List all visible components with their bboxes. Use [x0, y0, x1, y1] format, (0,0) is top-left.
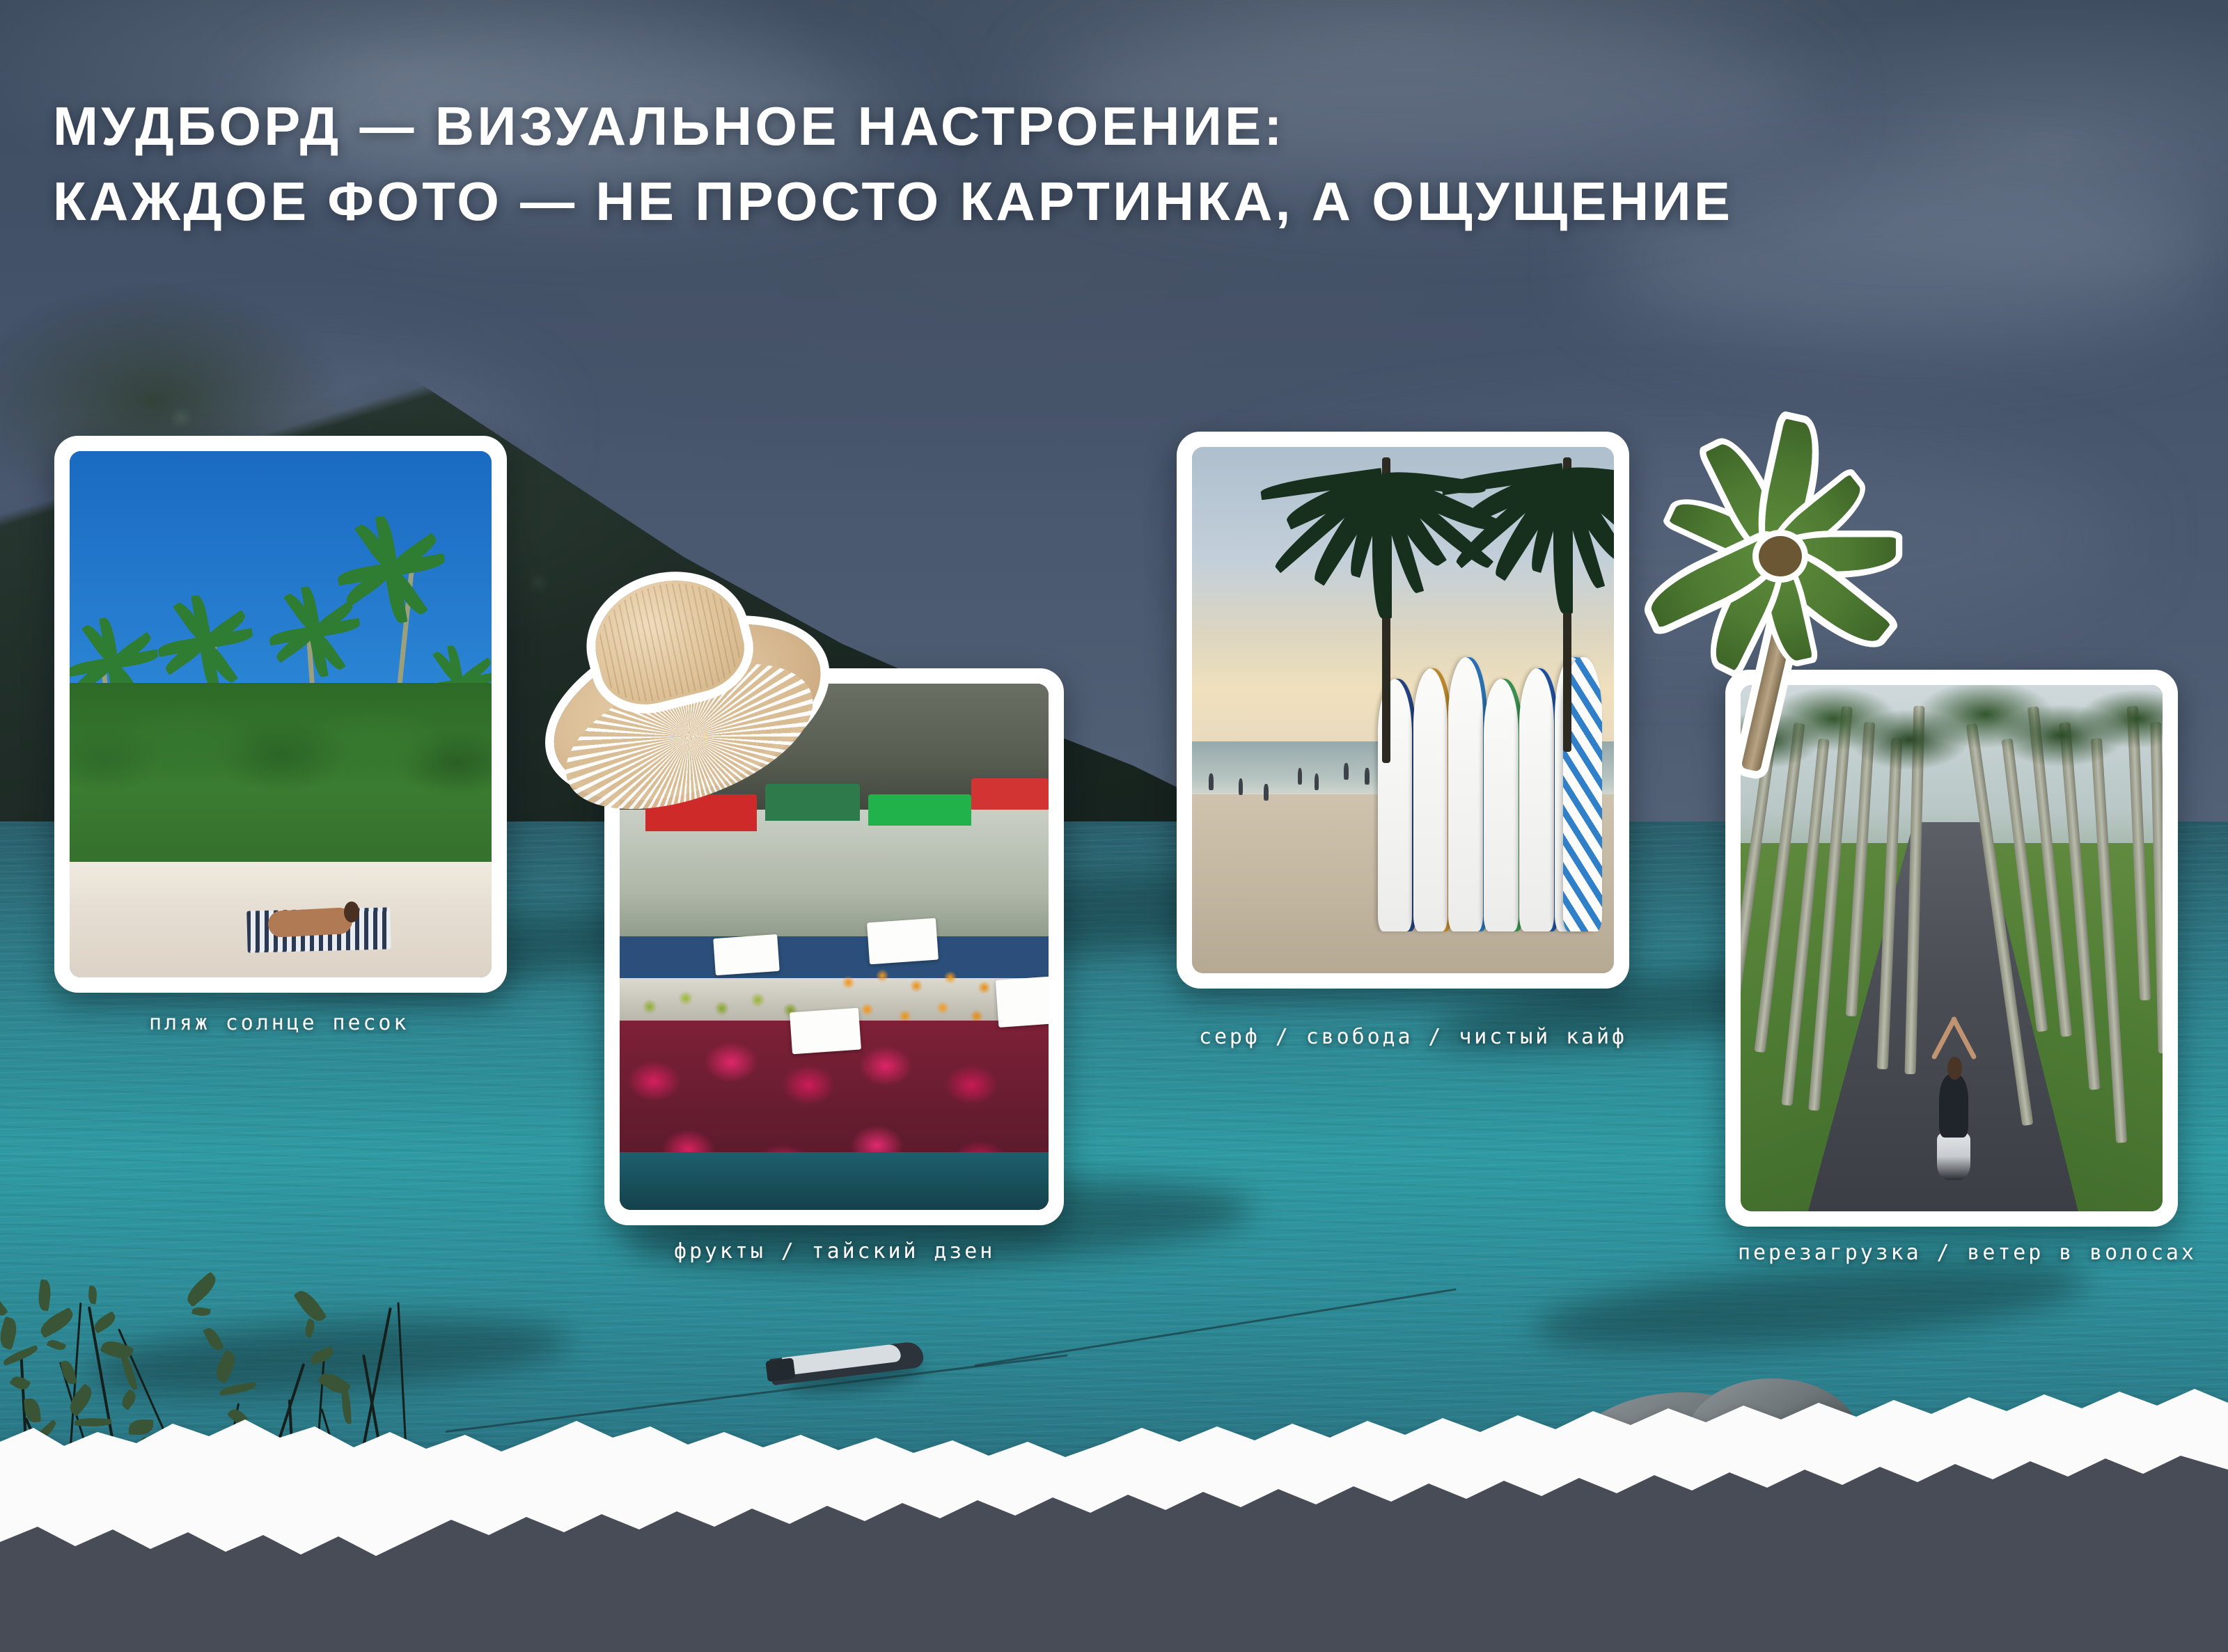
photo-beach: [70, 451, 492, 977]
bush-leaf: [0, 1316, 20, 1350]
bush-leaf: [47, 1337, 67, 1353]
moodboard-slide: МУДБОРД — ВИЗУАЛЬНОЕ НАСТРОЕНИЕ: КАЖДОЕ …: [0, 0, 2228, 1652]
photo-card-scooter[interactable]: [1725, 670, 2178, 1227]
photo-rider-head: [1947, 1057, 1962, 1080]
photo-person: [1264, 784, 1269, 801]
straw-hat-sticker: [539, 561, 834, 831]
photo-surfboard: [1448, 657, 1487, 931]
title-line-2: КАЖДОЕ ФОТО — НЕ ПРОСТО КАРТИНКА, А ОЩУЩ…: [53, 164, 1733, 239]
page-title: МУДБОРД — ВИЗУАЛЬНОЕ НАСТРОЕНИЕ: КАЖДОЕ …: [53, 89, 1733, 239]
photo-person: [1239, 778, 1244, 795]
photo-sunbather-head: [344, 902, 359, 922]
photo-market-crate: [620, 1152, 1049, 1210]
bush-leaf: [191, 1305, 211, 1317]
bush-leaf: [203, 1325, 223, 1353]
photo-surfboard: [1519, 668, 1558, 931]
palm-tree-sticker: [1622, 362, 1984, 752]
photo-card-beach[interactable]: [54, 436, 507, 993]
photo-rider-body: [1939, 1074, 1968, 1138]
photo-palm-crown: [1382, 468, 1383, 469]
photo-price-tag: [867, 918, 939, 965]
photo-price-tag: [713, 934, 780, 975]
torn-paper-edge: [0, 1360, 2228, 1652]
bush-leaf: [37, 1280, 53, 1312]
title-line-1: МУДБОРД — ВИЗУАЛЬНОЕ НАСТРОЕНИЕ:: [53, 89, 1733, 164]
photo-scooter-vehicle: [1937, 1133, 1970, 1180]
bush-leaf: [91, 1311, 118, 1334]
photo-surf: [1192, 447, 1614, 973]
bush-leaf: [100, 1337, 134, 1363]
photo-market-tent: [971, 778, 1049, 810]
bush-leaf: [303, 1319, 316, 1338]
photo-scooter: [1741, 685, 2163, 1211]
bush-leaf: [37, 1307, 77, 1339]
photo-palm-crown: [1563, 463, 1564, 464]
caption-beach: пляж солнце песок: [149, 1011, 409, 1035]
photo-market-tent: [868, 794, 971, 826]
caption-market: фрукты / тайский дзен: [674, 1239, 995, 1264]
photo-price-tag: [996, 976, 1049, 1028]
caption-surf: серф / свобода / чистый кайф: [1199, 1025, 1627, 1049]
bush-leaf: [88, 1285, 98, 1304]
photo-person: [1315, 773, 1319, 790]
palm-crown-icon: [1759, 536, 1802, 576]
caption-scooter: перезагрузка / ветер в волосах: [1738, 1241, 2197, 1265]
photo-sunbather: [267, 907, 353, 938]
photo-surfboard: [1484, 679, 1523, 931]
bush-leaf: [0, 1292, 8, 1319]
photo-card-surf[interactable]: [1177, 432, 1629, 989]
photo-person: [1298, 768, 1303, 785]
photo-surfboard: [1413, 668, 1452, 931]
photo-person: [1344, 763, 1349, 780]
photo-person: [1209, 773, 1214, 790]
photo-vegetation: [70, 683, 492, 872]
photo-person: [1365, 768, 1370, 785]
photo-price-tag: [790, 1007, 861, 1054]
bush-leaf: [182, 1271, 220, 1307]
